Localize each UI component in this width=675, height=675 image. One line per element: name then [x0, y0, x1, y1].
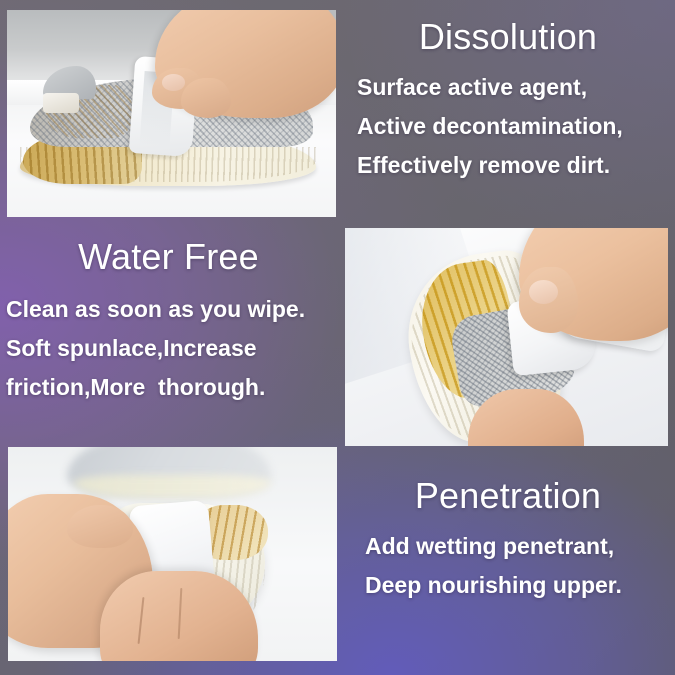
panel-line: Soft spunlace,Increase [6, 337, 337, 360]
product-infographic: Dissolution Surface active agent, Active… [0, 0, 675, 675]
photo-wipe-sole-hands [8, 447, 337, 661]
panel-line: friction,More thorough. [6, 376, 337, 399]
panel-line: Surface active agent, [357, 76, 675, 99]
panel-line: Deep nourishing upper. [365, 574, 675, 597]
panel-lines: Add wetting penetrant, Deep nourishing u… [341, 535, 675, 597]
panel-water-free: Water Free Clean as soon as you wipe. So… [0, 238, 337, 399]
panel-line: Active decontamination, [357, 115, 675, 138]
panel-line: Clean as soon as you wipe. [6, 298, 337, 321]
panel-lines: Clean as soon as you wipe. Soft spunlace… [0, 298, 337, 399]
photo-wipe-shoe-side [7, 10, 336, 217]
panel-line: Effectively remove dirt. [357, 154, 675, 177]
panel-penetration: Penetration Add wetting penetrant, Deep … [341, 477, 675, 597]
panel-title: Penetration [341, 477, 675, 515]
panel-title: Dissolution [341, 18, 675, 56]
finger [67, 505, 133, 548]
heel-pull-tab [43, 93, 79, 114]
panel-lines: Surface active agent, Active decontamina… [341, 76, 675, 177]
photo-wipe-midsole [345, 228, 668, 446]
fingernail [162, 74, 185, 91]
panel-title: Water Free [0, 238, 337, 276]
panel-dissolution: Dissolution Surface active agent, Active… [341, 18, 675, 177]
background-sneaker-sole-blurred [74, 475, 271, 499]
finger [181, 78, 230, 117]
panel-line: Add wetting penetrant, [365, 535, 675, 558]
